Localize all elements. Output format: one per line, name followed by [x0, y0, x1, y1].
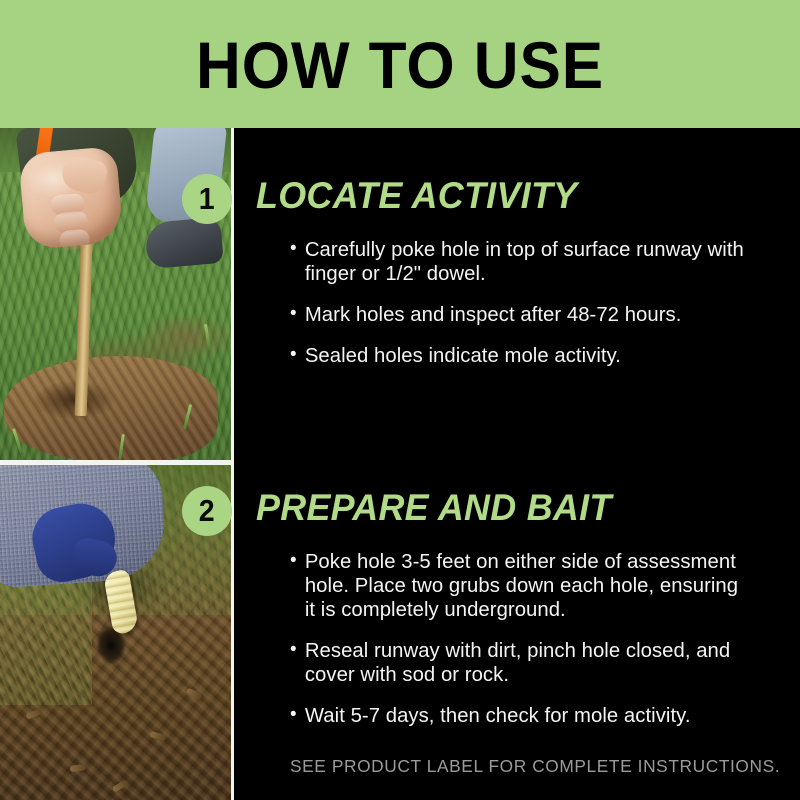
how-to-use-infographic: HOW TO USE	[0, 0, 800, 800]
page-title: HOW TO USE	[196, 30, 604, 98]
step-title: PREPARE AND BAIT	[256, 487, 612, 528]
step-locate-activity: 1 LOCATE ACTIVITY Carefully poke hole in…	[234, 174, 800, 385]
list-item: Mark holes and inspect after 48-72 hours…	[290, 303, 747, 327]
product-label-note: SEE PRODUCT LABEL FOR COMPLETE INSTRUCTI…	[290, 756, 795, 776]
list-item: Sealed holes indicate mole activity.	[290, 344, 747, 368]
step-number-badge-1: 1	[182, 174, 232, 224]
step-number-badge-2: 2	[182, 486, 232, 536]
step-number: 2	[199, 495, 215, 528]
dirt-mound	[4, 356, 218, 460]
step-bullet-list: Poke hole 3-5 feet on either side of ass…	[290, 550, 800, 728]
step-header: 2 PREPARE AND BAIT	[234, 486, 800, 536]
list-item: Poke hole 3-5 feet on either side of ass…	[290, 550, 747, 622]
step-header: 1 LOCATE ACTIVITY	[234, 174, 800, 224]
step-number: 1	[199, 183, 215, 216]
grass-left-clump	[0, 575, 92, 705]
list-item: Wait 5-7 days, then check for mole activ…	[290, 704, 747, 728]
step-title: LOCATE ACTIVITY	[256, 175, 577, 216]
header-banner: HOW TO USE	[0, 0, 800, 128]
list-item: Reseal runway with dirt, pinch hole clos…	[290, 639, 747, 687]
step-bullet-list: Carefully poke hole in top of surface ru…	[290, 238, 800, 368]
list-item: Carefully poke hole in top of surface ru…	[290, 238, 747, 286]
step-prepare-and-bait: 2 PREPARE AND BAIT Poke hole 3-5 feet on…	[234, 486, 800, 745]
photo-divider	[0, 460, 231, 465]
instructions-panel: 1 LOCATE ACTIVITY Carefully poke hole in…	[234, 128, 800, 800]
